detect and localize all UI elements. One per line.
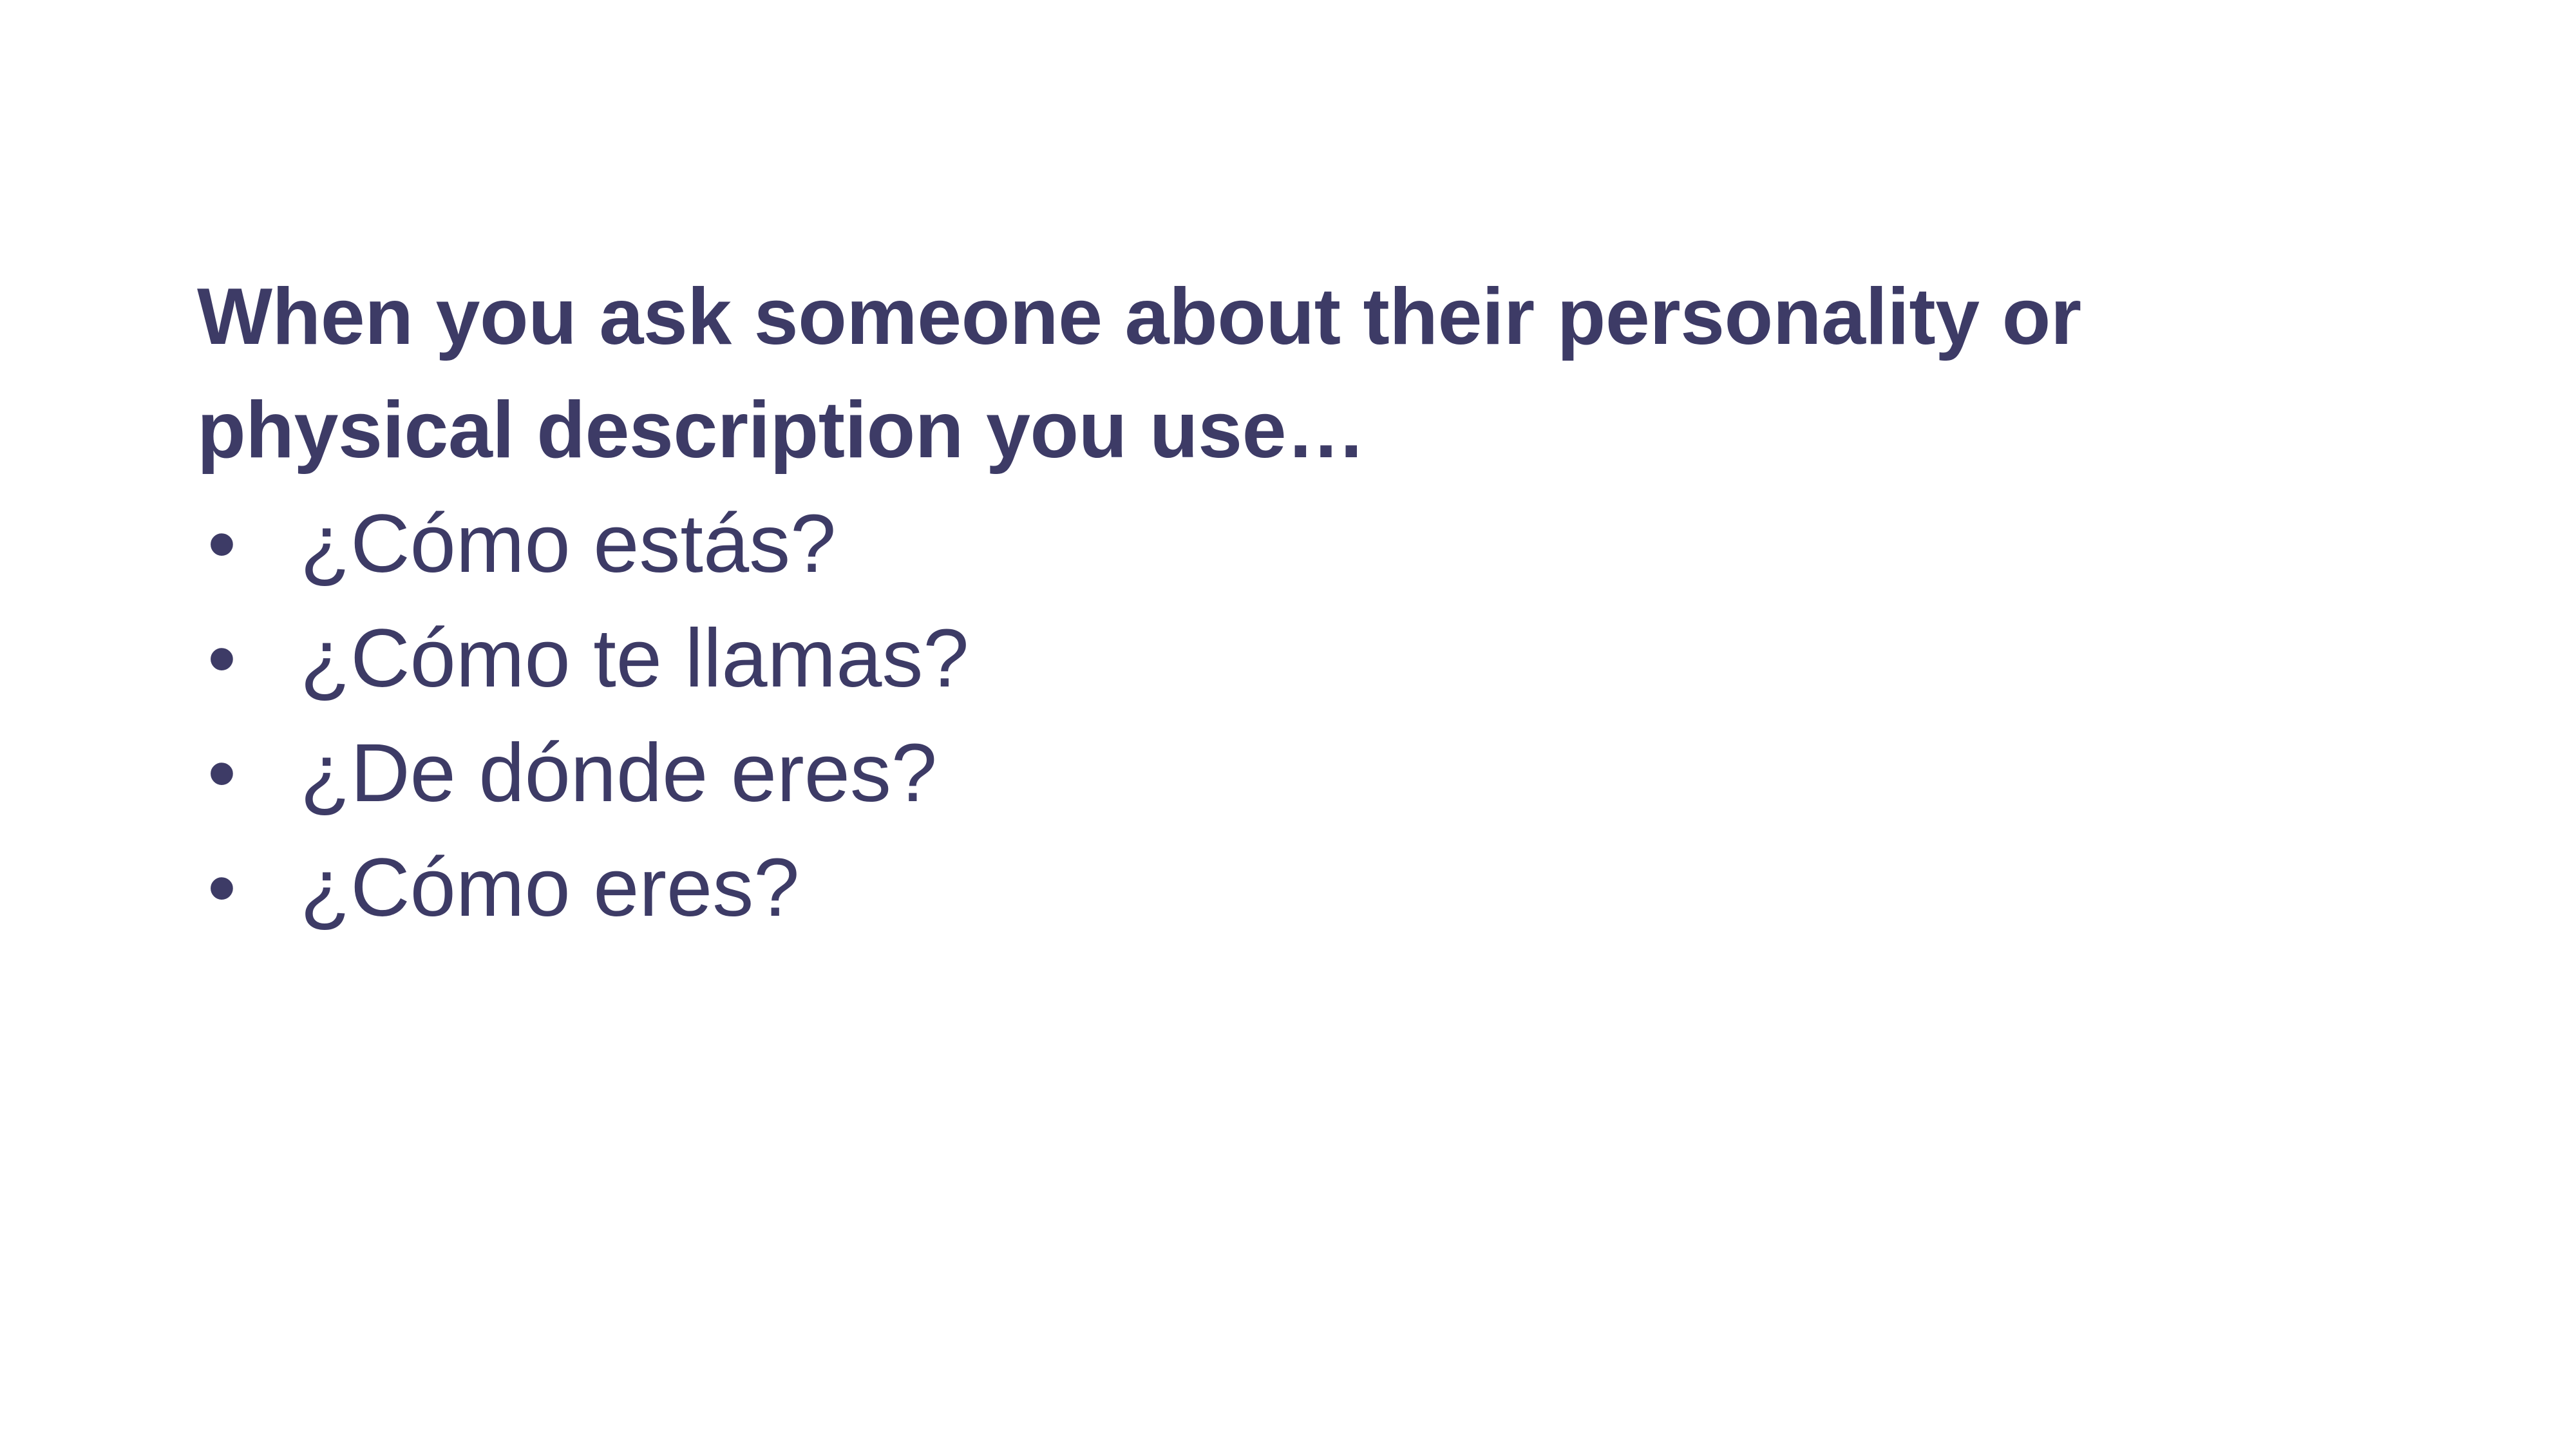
list-item[interactable]: • ¿De dónde eres? xyxy=(197,716,2419,831)
bullet-list: • ¿Cómo estás? • ¿Cómo te llamas? • ¿De … xyxy=(197,487,2419,945)
slide-content-block: When you ask someone about their persona… xyxy=(197,260,2419,945)
list-item[interactable]: • ¿Cómo estás? xyxy=(197,487,2419,601)
bullet-dot-icon: • xyxy=(207,716,246,831)
slide-canvas: When you ask someone about their persona… xyxy=(0,0,2576,1449)
bullet-dot-icon: • xyxy=(207,831,246,945)
list-item-label: ¿De dónde eres? xyxy=(300,716,937,831)
bullet-dot-icon: • xyxy=(207,487,246,601)
list-item-label: ¿Cómo estás? xyxy=(300,487,836,601)
list-item[interactable]: • ¿Cómo te llamas? xyxy=(197,601,2419,716)
bullet-dot-icon: • xyxy=(207,601,246,716)
list-item[interactable]: • ¿Cómo eres? xyxy=(197,831,2419,945)
list-item-label: ¿Cómo eres? xyxy=(300,831,799,945)
list-item-label: ¿Cómo te llamas? xyxy=(300,601,969,716)
slide-title: When you ask someone about their persona… xyxy=(197,260,2419,487)
